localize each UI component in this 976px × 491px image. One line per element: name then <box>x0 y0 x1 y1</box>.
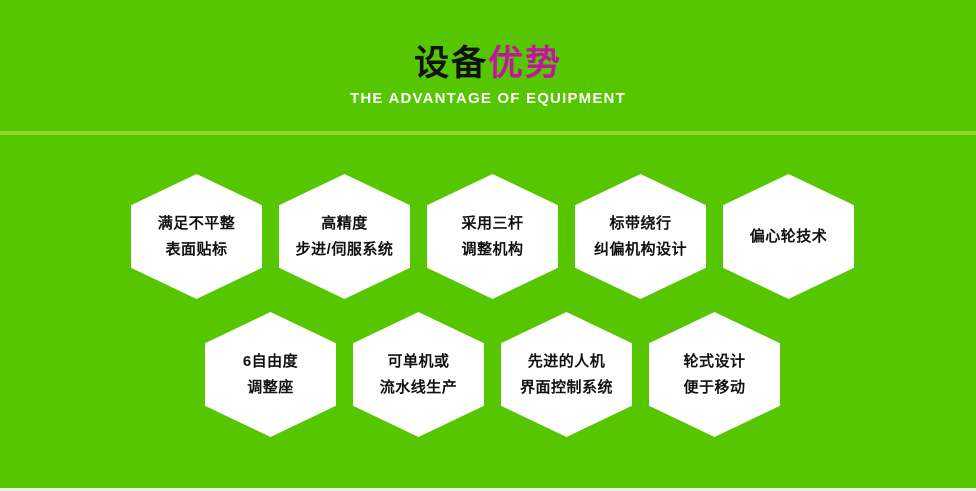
hex-card-6[interactable]: 6自由度 调整座 <box>205 312 336 437</box>
equipment-advantage-banner: 设备优势 THE ADVANTAGE OF EQUIPMENT 满足不平整 表面… <box>0 0 976 491</box>
hexagon-grid: 满足不平整 表面贴标 高精度 步进/伺服系统 采用三杆 调整机构 标带绕行 纠偏… <box>0 0 976 491</box>
hex-card-9-line-1: 轮式设计 <box>683 349 745 375</box>
hex-card-5-line-1: 偏心轮技术 <box>750 224 828 250</box>
hex-card-2-line-1: 高精度 <box>321 211 368 237</box>
hex-card-1-line-1: 满足不平整 <box>158 211 236 237</box>
hex-card-4[interactable]: 标带绕行 纠偏机构设计 <box>575 174 706 299</box>
hex-card-2[interactable]: 高精度 步进/伺服系统 <box>279 174 410 299</box>
hex-card-7-line-1: 可单机或 <box>387 349 449 375</box>
hex-card-8-line-2: 界面控制系统 <box>520 375 613 401</box>
hex-card-1[interactable]: 满足不平整 表面贴标 <box>131 174 262 299</box>
hex-card-1-line-2: 表面贴标 <box>165 237 227 263</box>
hex-card-3[interactable]: 采用三杆 调整机构 <box>427 174 558 299</box>
hex-card-4-line-2: 纠偏机构设计 <box>594 237 687 263</box>
hex-card-3-line-2: 调整机构 <box>461 237 523 263</box>
hex-card-8[interactable]: 先进的人机 界面控制系统 <box>501 312 632 437</box>
hex-card-3-line-1: 采用三杆 <box>461 211 523 237</box>
hex-card-9[interactable]: 轮式设计 便于移动 <box>649 312 780 437</box>
hex-card-5[interactable]: 偏心轮技术 <box>723 174 854 299</box>
hex-card-9-line-2: 便于移动 <box>683 375 745 401</box>
hex-card-8-line-1: 先进的人机 <box>528 349 606 375</box>
hex-card-2-line-2: 步进/伺服系统 <box>296 237 394 263</box>
hex-card-7-line-2: 流水线生产 <box>380 375 458 401</box>
hex-card-6-line-1: 6自由度 <box>243 349 298 375</box>
hex-card-4-line-1: 标带绕行 <box>609 211 671 237</box>
hex-card-7[interactable]: 可单机或 流水线生产 <box>353 312 484 437</box>
hex-card-6-line-2: 调整座 <box>247 375 294 401</box>
